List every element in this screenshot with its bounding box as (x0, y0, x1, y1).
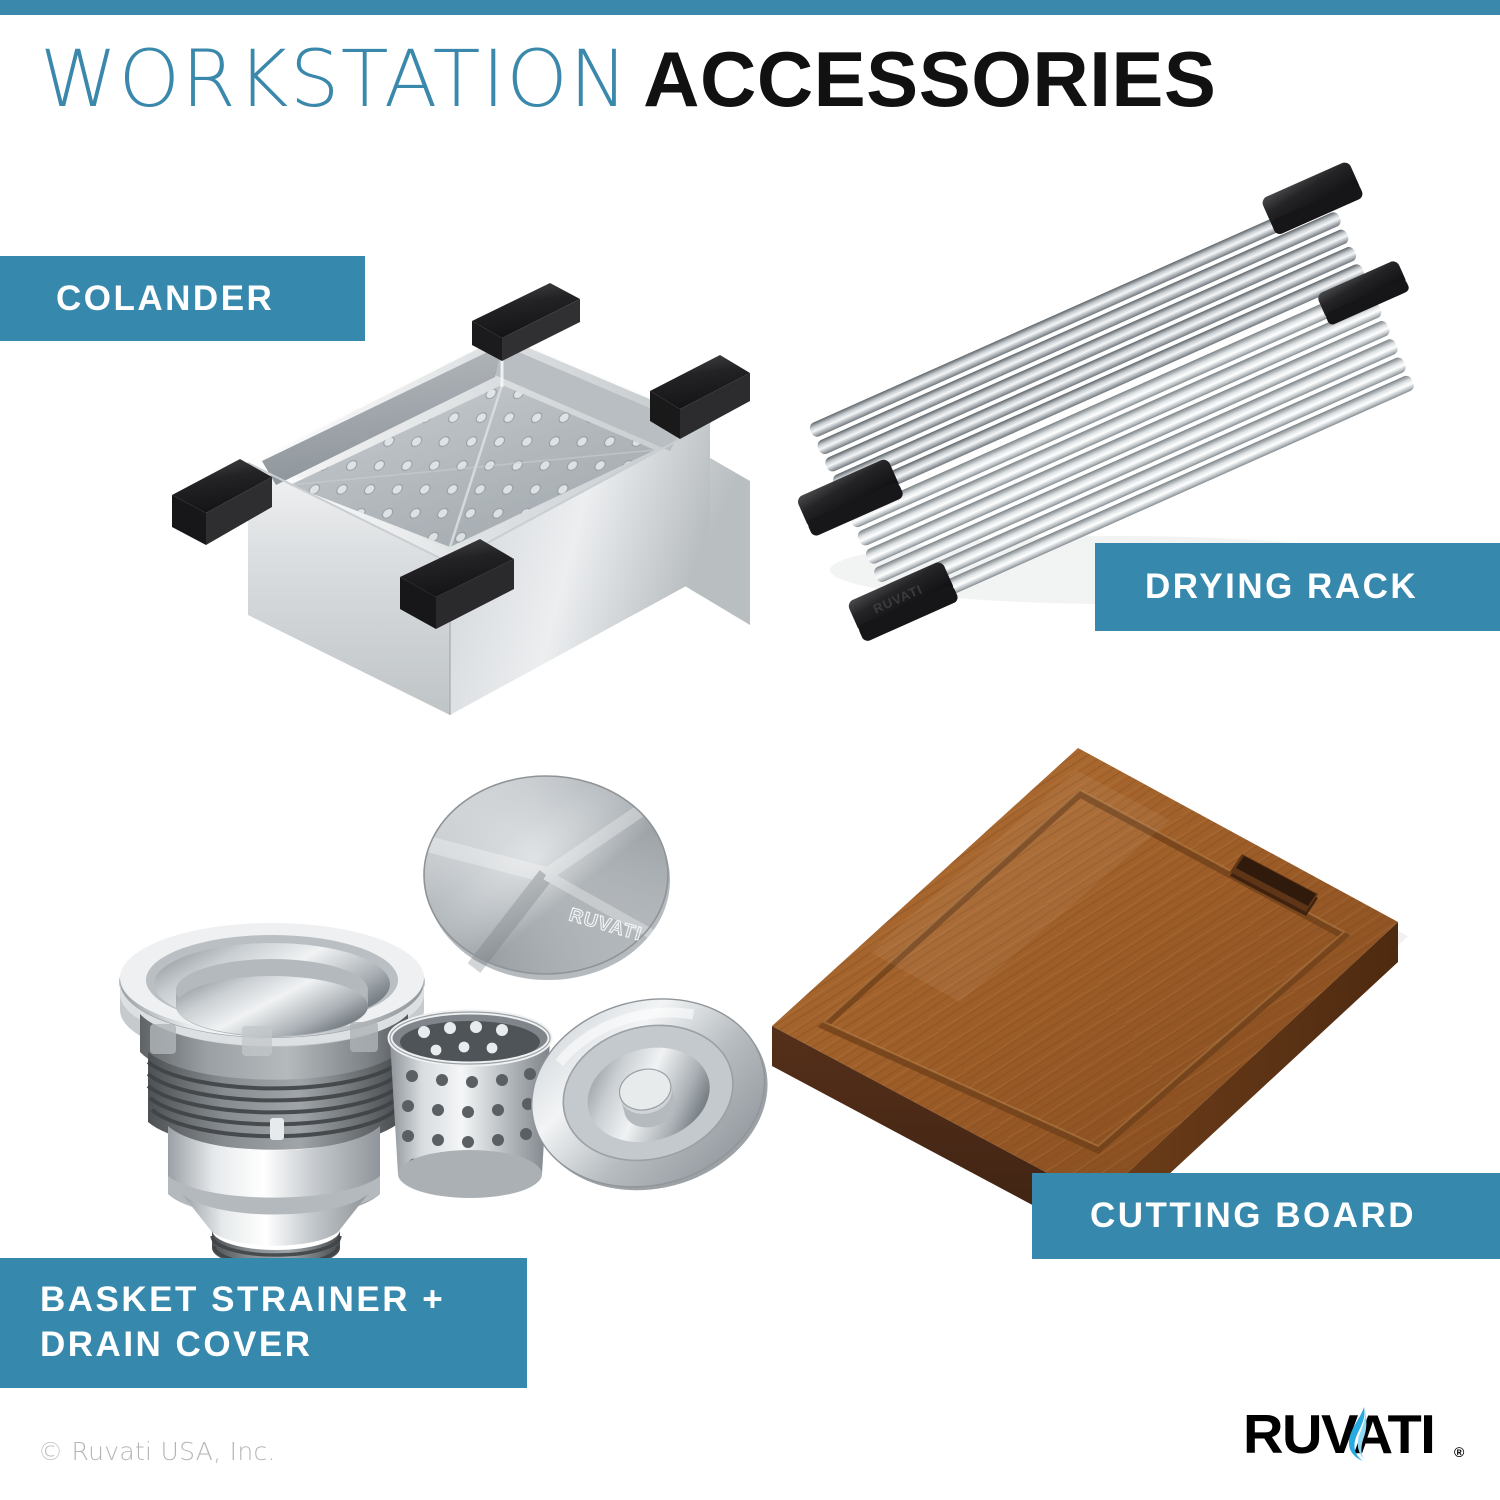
drain-cover-disc: RUVATI (424, 776, 670, 980)
label-badge-drying-rack: DRYING RACK (1095, 543, 1500, 631)
page-title: WORKSTATIONACCESSORIES (40, 40, 1216, 119)
strainer-basket-lid (510, 973, 789, 1216)
label-text-cutting-board: CUTTING BOARD (1090, 1196, 1416, 1236)
top-accent-bar (0, 0, 1500, 15)
ruvati-logo: RUVATI ® (1243, 1405, 1473, 1467)
copyright-text: © Ruvati USA, Inc. (38, 1437, 276, 1466)
label-badge-basket-strainer: BASKET STRAINER + DRAIN COVER (0, 1258, 527, 1388)
label-text-drying-rack: DRYING RACK (1145, 567, 1418, 607)
product-image-basket-strainer: RUVATI (90, 770, 770, 1250)
ruvati-registered-mark: ® (1454, 1444, 1465, 1460)
colander-bumper-right (650, 355, 750, 439)
ruvati-logo-wordmark: RUVATI (1243, 1403, 1434, 1464)
page-title-light: WORKSTATION (40, 35, 629, 125)
infographic-page: WORKSTATIONACCESSORIES (0, 0, 1500, 1500)
label-badge-cutting-board: CUTTING BOARD (1032, 1173, 1500, 1259)
label-text-colander: COLANDER (56, 279, 274, 319)
label-text-basket-strainer-line1: BASKET STRAINER + (40, 1278, 445, 1323)
label-badge-colander: COLANDER (0, 256, 365, 341)
page-title-bold: ACCESSORIES (643, 35, 1216, 123)
label-text-basket-strainer-line2: DRAIN COVER (40, 1323, 445, 1368)
strainer-basket (390, 1012, 550, 1198)
drain-body-assembly (120, 923, 424, 1268)
